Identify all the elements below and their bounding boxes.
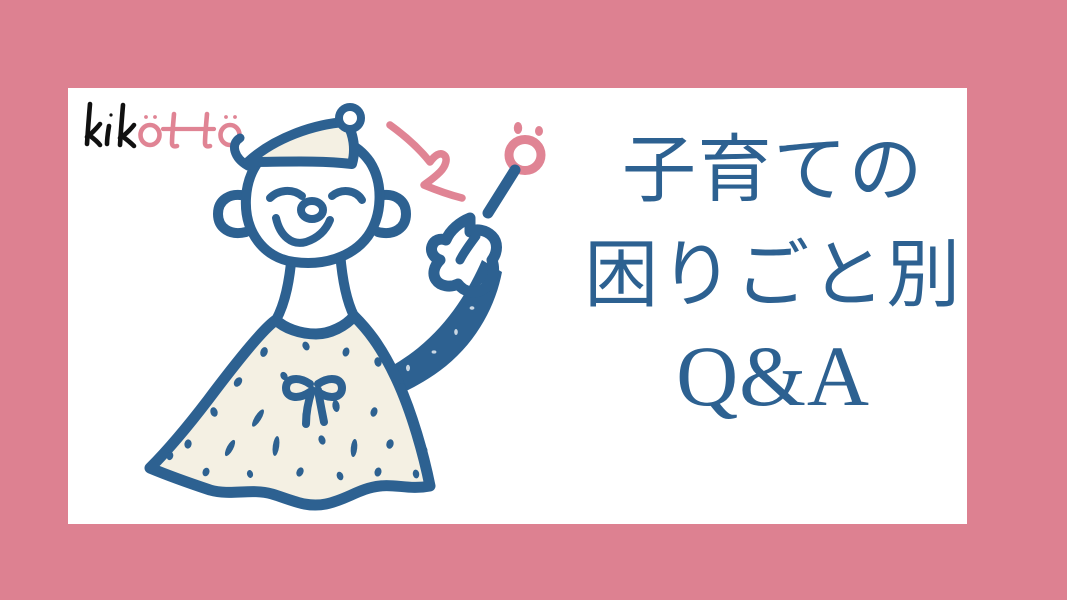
white-card: 子育ての 困りごと別 Q&A xyxy=(68,88,967,524)
headline-block: 子育ての 困りごと別 Q&A xyxy=(583,118,963,498)
girl-with-magic-wand-illustration xyxy=(78,100,578,524)
headband-knot xyxy=(339,107,361,129)
headline-line-3: Q&A xyxy=(676,328,870,424)
headline-line-1: 子育ての xyxy=(622,118,924,223)
magic-wand-tip-icon xyxy=(509,122,543,171)
magic-wand-stick xyxy=(488,170,515,213)
polka-dot-dress xyxy=(150,316,430,505)
headline-line-2: 困りごと別 xyxy=(584,223,961,328)
thumb xyxy=(460,236,476,260)
sparkle-trail-icon xyxy=(390,125,462,198)
headband xyxy=(248,122,354,164)
banner-root: 子育ての 困りごと別 Q&A xyxy=(0,0,1067,600)
nose xyxy=(301,201,323,219)
